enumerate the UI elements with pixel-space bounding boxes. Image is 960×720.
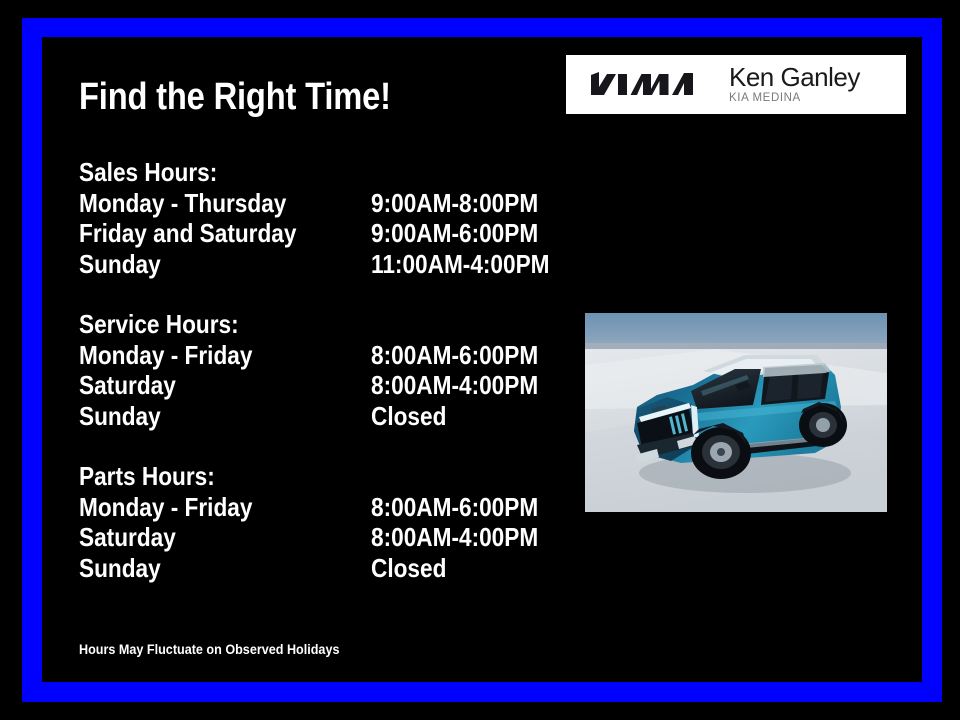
dealer-logo-card: Ken Ganley KIA MEDINA [566,55,906,114]
day-label: Saturday [79,370,333,401]
day-label: Monday - Friday [79,340,333,371]
day-label: Sunday [79,401,333,432]
day-label: Monday - Friday [79,492,333,523]
day-label: Sunday [79,553,333,584]
page-title: Find the Right Time! [79,78,391,116]
day-label: Saturday [79,522,333,553]
hours-row: Monday - Thursday 9:00AM-8:00PM [79,188,539,219]
hours-row: Friday and Saturday 9:00AM-6:00PM [79,218,539,249]
time-label: 8:00AM-6:00PM [371,492,538,523]
dealer-wordmark: Ken Ganley KIA MEDINA [729,64,860,105]
hours-section-service: Service Hours: Monday - Friday 8:00AM-6:… [79,309,539,431]
time-label: 9:00AM-6:00PM [371,218,538,249]
time-label: 8:00AM-6:00PM [371,340,538,371]
day-label: Monday - Thursday [79,188,333,219]
section-heading-parts: Parts Hours: [79,461,479,492]
kia-ev9-suv-photo [585,313,887,512]
hours-row: Sunday Closed [79,553,539,584]
time-label: Closed [371,553,517,584]
time-label: 11:00AM-4:00PM [371,249,550,280]
hours-list: Sales Hours: Monday - Thursday 9:00AM-8:… [79,157,539,583]
hours-row: Monday - Friday 8:00AM-6:00PM [79,340,539,371]
hours-row: Sunday Closed [79,401,539,432]
dealer-subtitle: KIA MEDINA [729,93,860,105]
hours-row: Sunday 11:00AM-4:00PM [79,249,539,280]
holiday-disclaimer: Hours May Fluctuate on Observed Holidays [79,641,339,657]
time-label: Closed [371,401,517,432]
slide-canvas: Find the Right Time! Sales Hours: Monday… [0,0,960,720]
time-label: 8:00AM-4:00PM [371,370,538,401]
kia-logo-mark [581,70,709,100]
day-label: Friday and Saturday [79,218,333,249]
section-heading-service: Service Hours: [79,309,479,340]
day-label: Sunday [79,249,333,280]
dealer-name: Ken Ganley [729,64,860,90]
hours-section-parts: Parts Hours: Monday - Friday 8:00AM-6:00… [79,461,539,583]
time-label: 8:00AM-4:00PM [371,522,538,553]
hours-section-sales: Sales Hours: Monday - Thursday 9:00AM-8:… [79,157,539,279]
time-label: 9:00AM-8:00PM [371,188,538,219]
hours-row: Monday - Friday 8:00AM-6:00PM [79,492,539,523]
section-heading-sales: Sales Hours: [79,157,479,188]
hours-row: Saturday 8:00AM-4:00PM [79,522,539,553]
hours-row: Saturday 8:00AM-4:00PM [79,370,539,401]
